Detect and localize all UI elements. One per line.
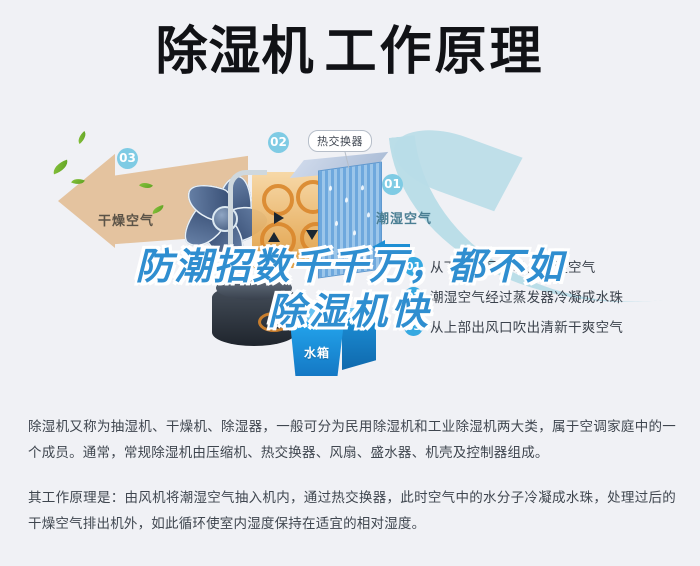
flow-arrow-icon (306, 230, 318, 240)
step-badge: 01 (404, 257, 423, 276)
step-text: 潮湿空气经过蒸发器冷凝成水珠 (430, 286, 623, 306)
body-paragraph-1: 除湿机又称为抽湿机、干燥机、除湿器，一般可分为民用除湿机和工业除湿机两大类，属于… (28, 414, 676, 467)
refrigerant-pipe-icon (228, 170, 267, 284)
list-item: 03 从上部出风口吹出清新干爽空气 (404, 316, 694, 336)
page-title: 除湿机工作原理 (0, 26, 700, 78)
article-body: 除湿机又称为抽湿机、干燥机、除湿器，一般可分为民用除湿机和工业除湿机两大类，属于… (28, 414, 676, 555)
step-badge: 03 (404, 317, 423, 336)
step-badge: 02 (404, 287, 423, 306)
heat-exchanger-callout: 热交换器 (308, 130, 372, 152)
step-text: 从下部进风口吸入潮湿空气 (430, 256, 596, 276)
step-list: 01 从下部进风口吸入潮湿空气 02 潮湿空气经过蒸发器冷凝成水珠 03 从上部… (404, 256, 694, 346)
page-title-part-one: 除湿机 (155, 26, 314, 78)
dry-air-label: 干燥空气 (98, 210, 154, 229)
list-item: 01 从下部进风口吸入潮湿空气 (404, 256, 694, 276)
flow-arrow-icon (274, 212, 284, 224)
page-title-part-two: 工作原理 (325, 26, 545, 78)
step-text: 从上部出风口吹出清新干爽空气 (430, 316, 623, 336)
humid-air-label: 潮湿空气 (376, 208, 432, 227)
list-item: 02 潮湿空气经过蒸发器冷凝成水珠 (404, 286, 694, 306)
leaf-icon (75, 131, 89, 144)
body-paragraph-2: 其工作原理是：由风机将潮湿空气抽入机内，通过热交换器，此时空气中的水分子冷凝成水… (28, 485, 676, 538)
inlet-arrow-tail-icon (384, 244, 410, 250)
flow-arrow-icon (268, 232, 280, 242)
leaf-icon (51, 160, 70, 175)
water-tank-label: 水箱 (304, 344, 330, 361)
heat-exchanger-badge: 02 (268, 132, 289, 153)
compressor-cap-icon (216, 276, 292, 300)
humid-air-badge: 01 (382, 174, 403, 195)
dry-air-badge: 03 (117, 148, 138, 169)
water-tank-side-icon (342, 316, 376, 370)
heat-exchanger-icon (318, 162, 382, 279)
